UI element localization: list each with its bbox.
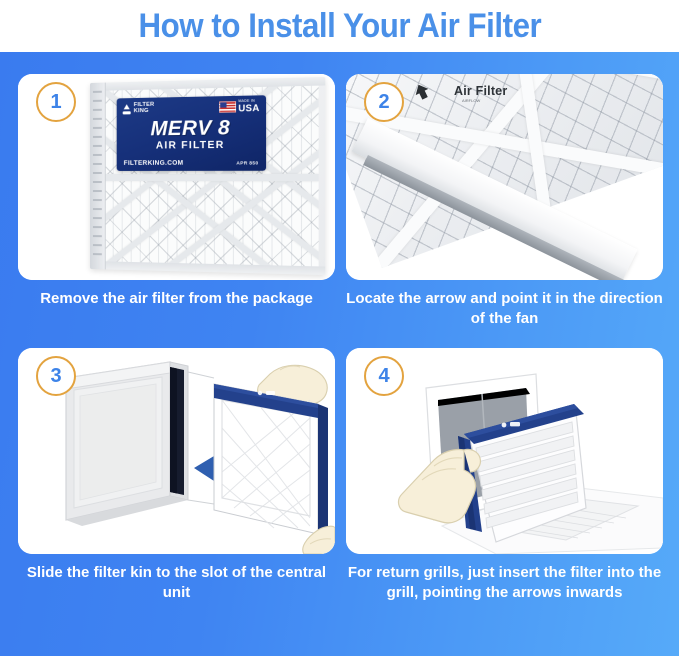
step-2-caption: Locate the arrow and point it in the dir…	[340, 289, 669, 328]
page-title: How to Install Your Air Filter	[138, 9, 541, 43]
step-4-caption: For return grills, just insert the filte…	[340, 563, 669, 602]
label-bottom-row: FILTERKING.COM APR 850	[117, 159, 266, 167]
filter-king-logo: FILTER KING	[123, 102, 155, 114]
frame-airflow-subtext: AIRFLOW	[462, 98, 480, 103]
step-2-badge-wrap: 2	[364, 82, 404, 122]
step-card-1: FILTER KING MADE IN USA	[12, 74, 341, 309]
step-3-image-card: 3	[18, 348, 335, 554]
step-number-badge: 4	[364, 356, 404, 396]
step-number-badge: 1	[36, 82, 76, 122]
us-flag-icon	[219, 101, 236, 113]
step-4-image-card: 4	[346, 348, 663, 554]
steps-grid: FILTER KING MADE IN USA	[0, 52, 679, 656]
header-bar: How to Install Your Air Filter	[0, 0, 679, 52]
step-card-4: 4 For return grills, just insert the fil…	[340, 348, 669, 602]
air-filter-body: FILTER KING MADE IN USA	[90, 77, 325, 275]
merv-rating: MERV 8	[117, 116, 266, 142]
frame-air-filter-text: Air Filter	[454, 84, 507, 98]
country-label: USA	[238, 103, 259, 113]
air-filter-panel	[214, 384, 328, 538]
step-card-3: 3 Slide the filter kin to the slot of th…	[12, 348, 341, 602]
step-2-image-card: Air Filter AIRFLOW 2	[346, 74, 663, 280]
made-in-usa-text: MADE IN USA	[238, 100, 259, 113]
step-4-badge-wrap: 4	[364, 356, 404, 396]
step-1-image-card: FILTER KING MADE IN USA	[18, 74, 335, 280]
brand-line-2: KING	[134, 107, 149, 113]
filter-rail-logo	[258, 391, 275, 395]
step-1-badge-wrap: 1	[36, 82, 76, 122]
step-3-badge-wrap: 3	[36, 356, 76, 396]
made-in-usa-badge: MADE IN USA	[219, 100, 259, 114]
product-label: FILTER KING MADE IN USA	[117, 95, 266, 171]
product-type-label: AIR FILTER	[117, 139, 266, 152]
step-number-badge: 2	[364, 82, 404, 122]
airflow-direction-arrow-icon	[412, 82, 432, 102]
central-unit-housing	[66, 362, 188, 526]
filter-edge-ticks	[93, 91, 102, 262]
step-1-caption: Remove the air filter from the package	[12, 289, 341, 309]
brand-name: FILTER KING	[134, 102, 155, 114]
step-card-2: Air Filter AIRFLOW 2 Locate the arrow an…	[340, 74, 669, 328]
step-3-caption: Slide the filter kin to the slot of the …	[12, 563, 341, 602]
crown-icon	[123, 103, 132, 114]
website-url: FILTERKING.COM	[124, 160, 184, 167]
slot-guide-lines	[188, 372, 214, 504]
filter-frame-left-edge	[90, 83, 106, 270]
infographic-page: How to Install Your Air Filter	[0, 0, 679, 656]
step-number-badge: 3	[36, 356, 76, 396]
apr-rating: APR 850	[236, 160, 258, 165]
label-top-row: FILTER KING MADE IN USA	[117, 98, 266, 116]
